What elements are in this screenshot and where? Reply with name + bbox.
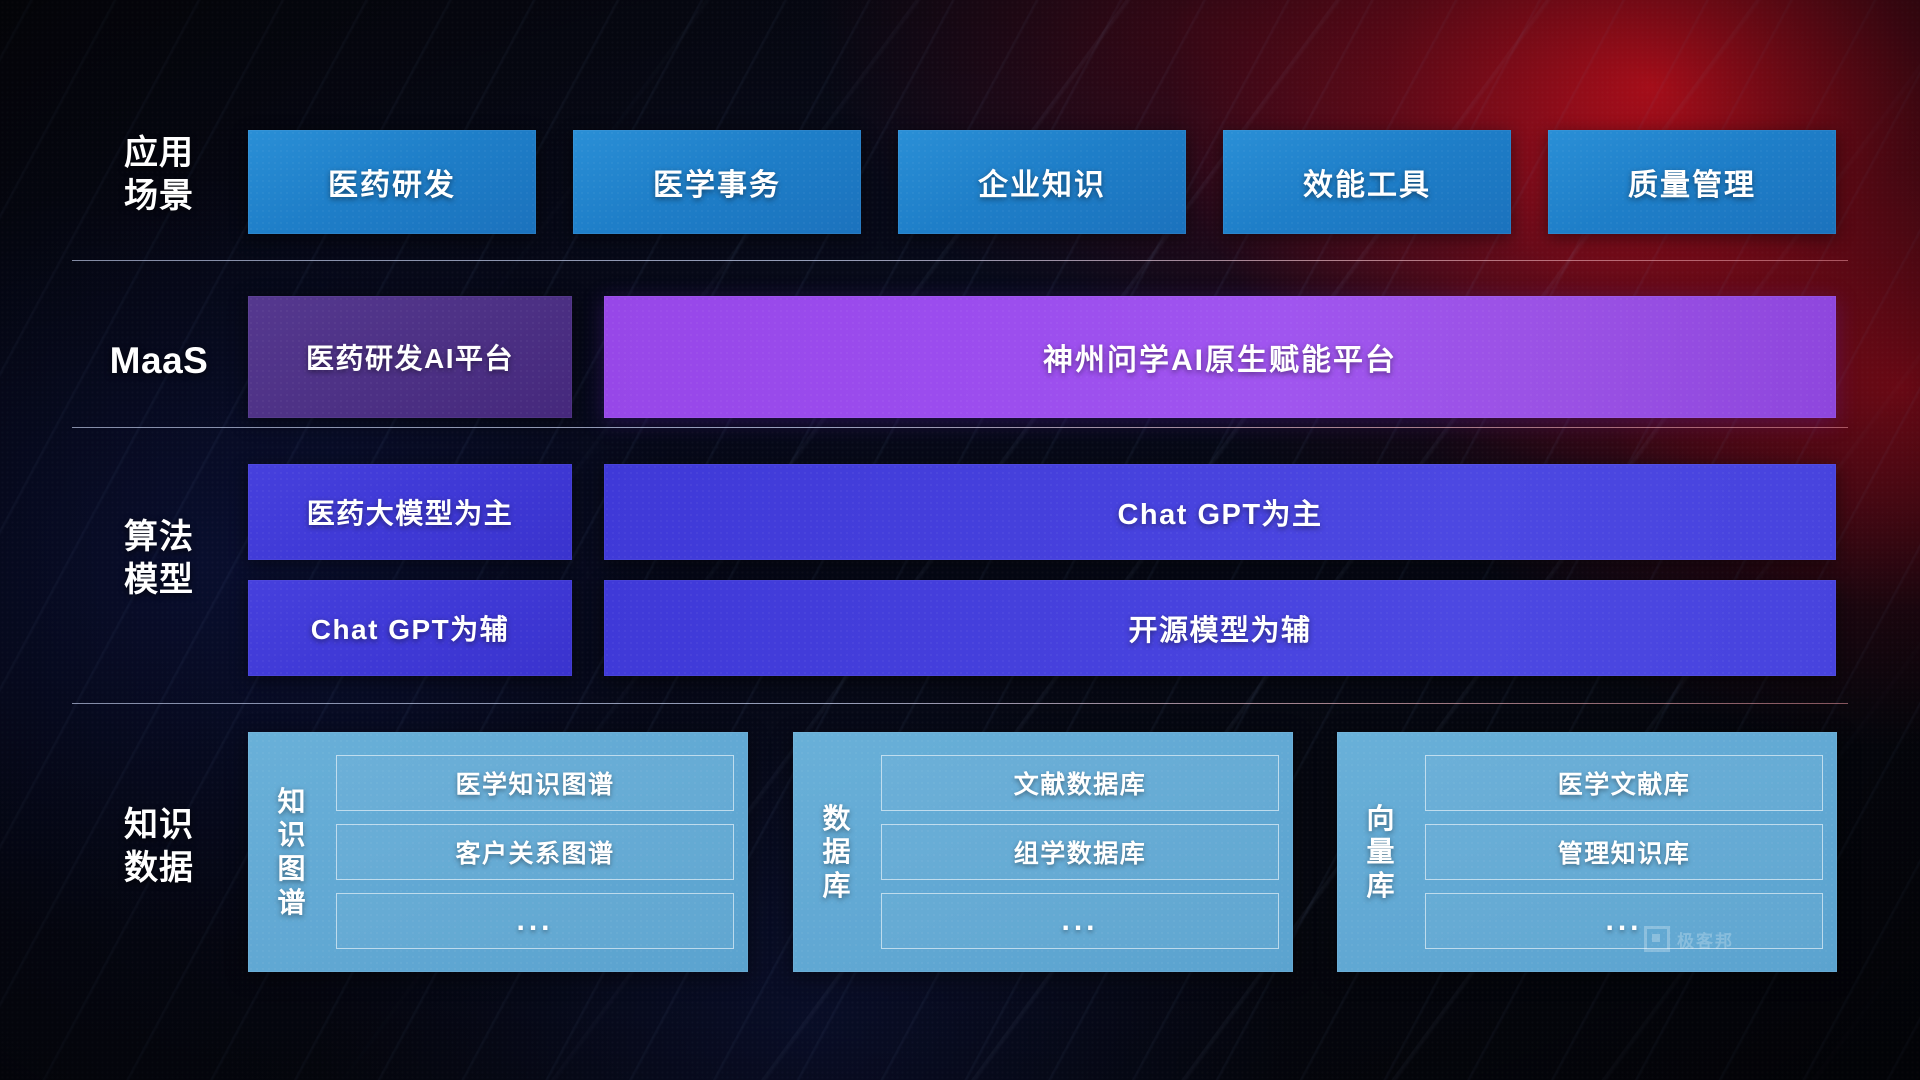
algo-tile-opensource-secondary[interactable]: 开源模型为辅 xyxy=(604,580,1836,676)
app-tile-label: 效能工具 xyxy=(1303,160,1431,204)
row-label-line: 数据 xyxy=(84,847,234,890)
app-tile-quality-management[interactable]: 质量管理 xyxy=(1548,130,1836,234)
title-char: 谱 xyxy=(277,886,306,920)
title-char: 识 xyxy=(277,818,306,852)
maas-tile-pharma-ai-platform[interactable]: 医药研发AI平台 xyxy=(248,296,572,418)
knowledge-item-list: 医学文献库 管理知识库 ... xyxy=(1425,744,1823,960)
app-tile-label: 医学事务 xyxy=(653,160,781,204)
row-label-algorithm-models: 算法 模型 xyxy=(84,516,234,602)
knowledge-item-label: ... xyxy=(1061,904,1098,938)
maas-tile-label: 医药研发AI平台 xyxy=(306,337,514,377)
row-label-maas: MaaS xyxy=(84,338,234,385)
title-char: 图 xyxy=(277,852,306,886)
algo-tile-label: 开源模型为辅 xyxy=(1128,607,1311,649)
row-label-line: 场景 xyxy=(84,175,234,218)
knowledge-card-database[interactable]: 数 据 库 文献数据库 组学数据库 ... xyxy=(793,732,1293,972)
row-label-line: 算法 xyxy=(84,516,234,559)
divider-maas-algorithm xyxy=(72,427,1848,428)
knowledge-item-list: 文献数据库 组学数据库 ... xyxy=(881,744,1279,960)
knowledge-item-management-knowledge-store[interactable]: 管理知识库 xyxy=(1425,824,1823,880)
knowledge-item-medical-knowledge-graph[interactable]: 医学知识图谱 xyxy=(336,755,734,811)
knowledge-card-vector-store[interactable]: 向 量 库 医学文献库 管理知识库 ... xyxy=(1337,732,1837,972)
app-tile-label: 企业知识 xyxy=(978,160,1106,204)
row-label-application-scenarios: 应用 场景 xyxy=(84,132,234,218)
app-tile-enterprise-knowledge[interactable]: 企业知识 xyxy=(898,130,1186,234)
knowledge-card-title-vector-store: 向 量 库 xyxy=(1337,744,1425,960)
app-tile-label: 质量管理 xyxy=(1628,160,1756,204)
knowledge-item-more[interactable]: ... xyxy=(1425,893,1823,949)
knowledge-item-label: 客户关系图谱 xyxy=(455,834,614,870)
app-tile-efficiency-tools[interactable]: 效能工具 xyxy=(1223,130,1511,234)
row-label-line: 应用 xyxy=(84,132,234,175)
title-char: 库 xyxy=(1366,869,1395,903)
algo-tile-label: 医药大模型为主 xyxy=(307,492,514,532)
title-char: 数 xyxy=(822,802,851,836)
title-char: 据 xyxy=(822,835,851,869)
knowledge-item-label: ... xyxy=(516,904,553,938)
knowledge-card-title-knowledge-graph: 知 识 图 谱 xyxy=(248,744,336,960)
algo-tile-chatgpt-secondary[interactable]: Chat GPT为辅 xyxy=(248,580,572,676)
algo-tile-label: Chat GPT为主 xyxy=(1117,491,1322,533)
architecture-diagram: 应用 场景 医药研发 医学事务 企业知识 效能工具 质量管理 MaaS 医药研发… xyxy=(0,0,1920,1080)
app-tile-medicine-rd[interactable]: 医药研发 xyxy=(248,130,536,234)
knowledge-item-list: 医学知识图谱 客户关系图谱 ... xyxy=(336,744,734,960)
algo-tile-label: Chat GPT为辅 xyxy=(311,608,510,648)
knowledge-item-label: 组学数据库 xyxy=(1014,834,1147,870)
knowledge-card-title-database: 数 据 库 xyxy=(793,744,881,960)
knowledge-item-more[interactable]: ... xyxy=(336,893,734,949)
title-char: 知 xyxy=(277,785,306,819)
algo-tile-chatgpt-primary[interactable]: Chat GPT为主 xyxy=(604,464,1836,560)
knowledge-item-label: ... xyxy=(1605,904,1642,938)
maas-tile-label: 神州问学AI原生赋能平台 xyxy=(1043,335,1397,379)
knowledge-item-label: 管理知识库 xyxy=(1558,834,1691,870)
title-char: 量 xyxy=(1366,835,1395,869)
row-label-line: 模型 xyxy=(84,559,234,602)
knowledge-item-label: 文献数据库 xyxy=(1014,765,1147,801)
knowledge-item-medical-literature-store[interactable]: 医学文献库 xyxy=(1425,755,1823,811)
row-label-knowledge-data: 知识 数据 xyxy=(84,804,234,890)
knowledge-card-knowledge-graph[interactable]: 知 识 图 谱 医学知识图谱 客户关系图谱 ... xyxy=(248,732,748,972)
title-char: 向 xyxy=(1366,802,1395,836)
divider-application-maas xyxy=(72,260,1848,261)
title-char: 库 xyxy=(822,869,851,903)
knowledge-item-customer-relation-graph[interactable]: 客户关系图谱 xyxy=(336,824,734,880)
knowledge-item-omics-database[interactable]: 组学数据库 xyxy=(881,824,1279,880)
knowledge-item-label: 医学文献库 xyxy=(1558,765,1691,801)
algo-tile-pharma-llm-primary[interactable]: 医药大模型为主 xyxy=(248,464,572,560)
knowledge-item-label: 医学知识图谱 xyxy=(455,765,614,801)
app-tile-medical-affairs[interactable]: 医学事务 xyxy=(573,130,861,234)
divider-algorithm-knowledge xyxy=(72,703,1848,704)
knowledge-item-literature-database[interactable]: 文献数据库 xyxy=(881,755,1279,811)
row-label-line: 知识 xyxy=(84,804,234,847)
row-label-line: MaaS xyxy=(84,338,234,385)
app-tile-label: 医药研发 xyxy=(328,160,456,204)
maas-tile-shenzhou-wenxue-platform[interactable]: 神州问学AI原生赋能平台 xyxy=(604,296,1836,418)
knowledge-item-more[interactable]: ... xyxy=(881,893,1279,949)
